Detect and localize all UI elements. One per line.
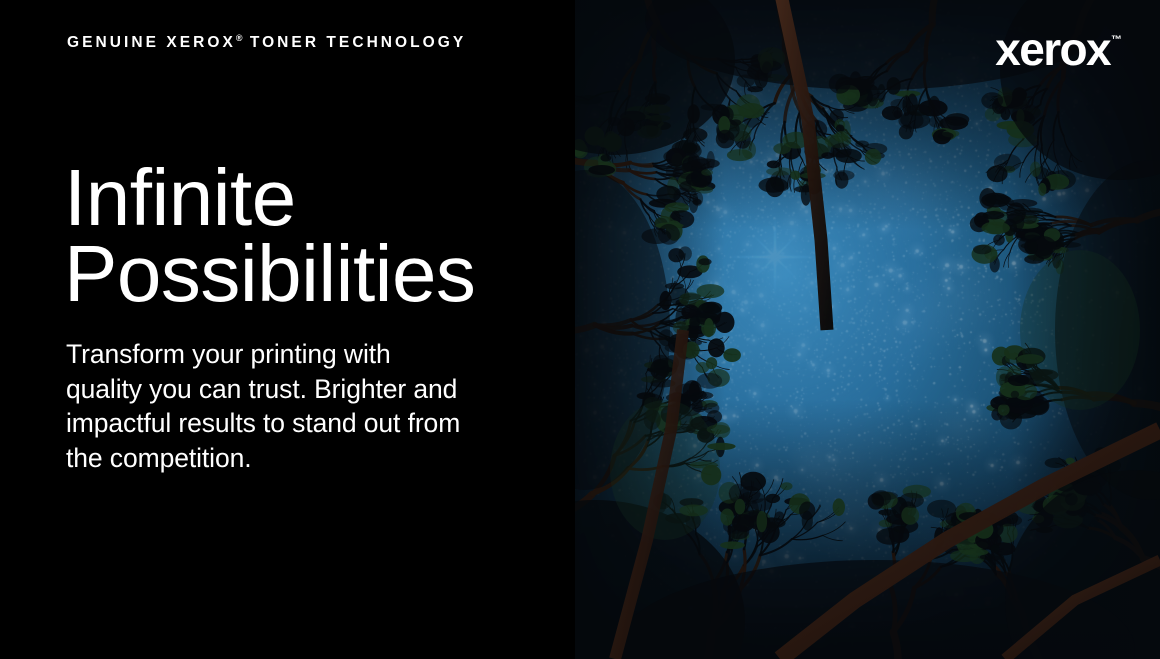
xerox-wordmark: xerox <box>995 23 1110 75</box>
xerox-toner-banner: GENUINE XEROX® TONER TECHNOLOGY Infinite… <box>0 0 1160 659</box>
copy-panel: GENUINE XEROX® TONER TECHNOLOGY Infinite… <box>0 0 575 659</box>
body-copy: Transform your printing with quality you… <box>66 337 506 475</box>
eyebrow-after: TONER TECHNOLOGY <box>242 34 466 51</box>
eyebrow-text: GENUINE XEROX® TONER TECHNOLOGY <box>67 33 466 52</box>
page-title: Infinite Possibilities <box>64 160 475 312</box>
eyebrow-before: GENUINE XEROX <box>67 34 236 51</box>
xerox-logo: xerox™ <box>995 26 1122 72</box>
tree-canopy-silhouette <box>575 0 1160 659</box>
trademark-symbol: ™ <box>1111 34 1122 46</box>
night-sky-forest-photo <box>575 0 1160 659</box>
